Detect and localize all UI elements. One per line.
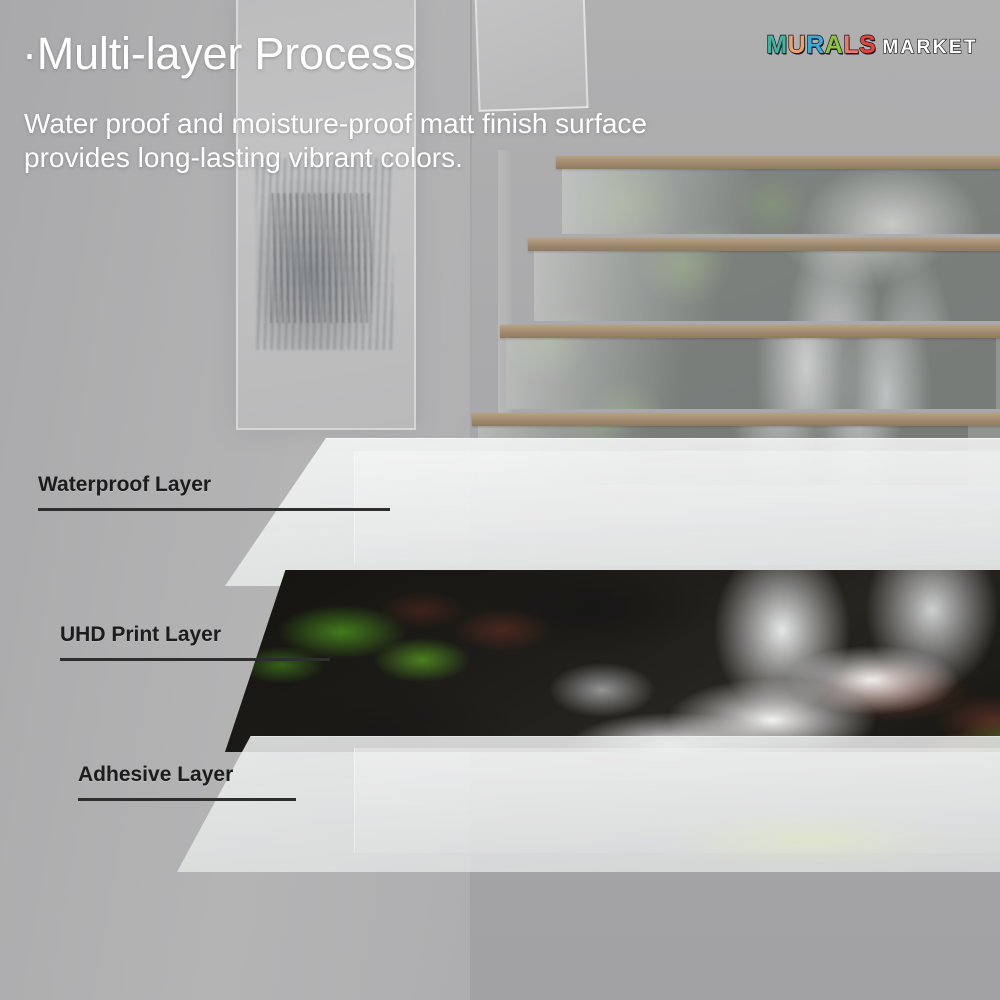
layer-label-print: UHD Print Layer	[60, 623, 330, 647]
stair-nosing	[500, 325, 1000, 338]
riser-haze	[506, 335, 1000, 409]
layer-label-waterproof: Waterproof Layer	[38, 473, 390, 497]
staircase	[510, 150, 1000, 480]
waterfall-photo	[172, 570, 1000, 752]
layer-label-adhesive: Adhesive Layer	[78, 763, 296, 787]
logo-murals-wordmark: M U R A L S	[766, 33, 876, 58]
logo-market-wordmark: MARKET	[882, 38, 978, 58]
stair-riser	[506, 335, 1000, 409]
page-title: ·Multi-layer Process	[22, 28, 416, 80]
logo-letter: S	[859, 33, 876, 58]
riser-haze	[562, 164, 1000, 234]
callout-print: UHD Print Layer	[60, 623, 330, 661]
riser-haze	[534, 248, 1000, 321]
layer-plate-adhesive	[172, 736, 1000, 872]
stair-nosing	[472, 413, 1000, 426]
adhesive-film	[172, 736, 1000, 872]
film-inner-panel	[354, 451, 1000, 566]
stair-nosing	[528, 238, 1000, 251]
adhesive-highlight	[669, 811, 951, 868]
infographic-canvas: ·Multi-layer Process Water proof and moi…	[0, 0, 1000, 1000]
logo-letter: L	[843, 33, 859, 58]
stair-riser	[562, 164, 1000, 234]
wall-corner-seam	[470, 0, 472, 470]
logo-letter: R	[806, 33, 825, 58]
print-film	[172, 570, 1000, 752]
framed-artwork-upper	[473, 0, 588, 112]
layer-plate-waterproof	[172, 438, 1000, 586]
logo-letter: U	[788, 33, 807, 58]
callout-rule	[38, 508, 390, 511]
callout-rule	[60, 658, 330, 661]
logo-letter: A	[825, 33, 844, 58]
brand-logo[interactable]: M U R A L S MARKET	[766, 33, 978, 58]
stair-riser	[534, 248, 1000, 321]
page-subtitle: Water proof and moisture-proof matt fini…	[24, 107, 647, 174]
layer-plate-print	[172, 570, 1000, 752]
callout-waterproof: Waterproof Layer	[38, 473, 390, 511]
waterproof-film	[172, 438, 1000, 586]
logo-letter: M	[766, 33, 787, 58]
callout-rule	[78, 798, 296, 801]
callout-adhesive: Adhesive Layer	[78, 763, 296, 801]
